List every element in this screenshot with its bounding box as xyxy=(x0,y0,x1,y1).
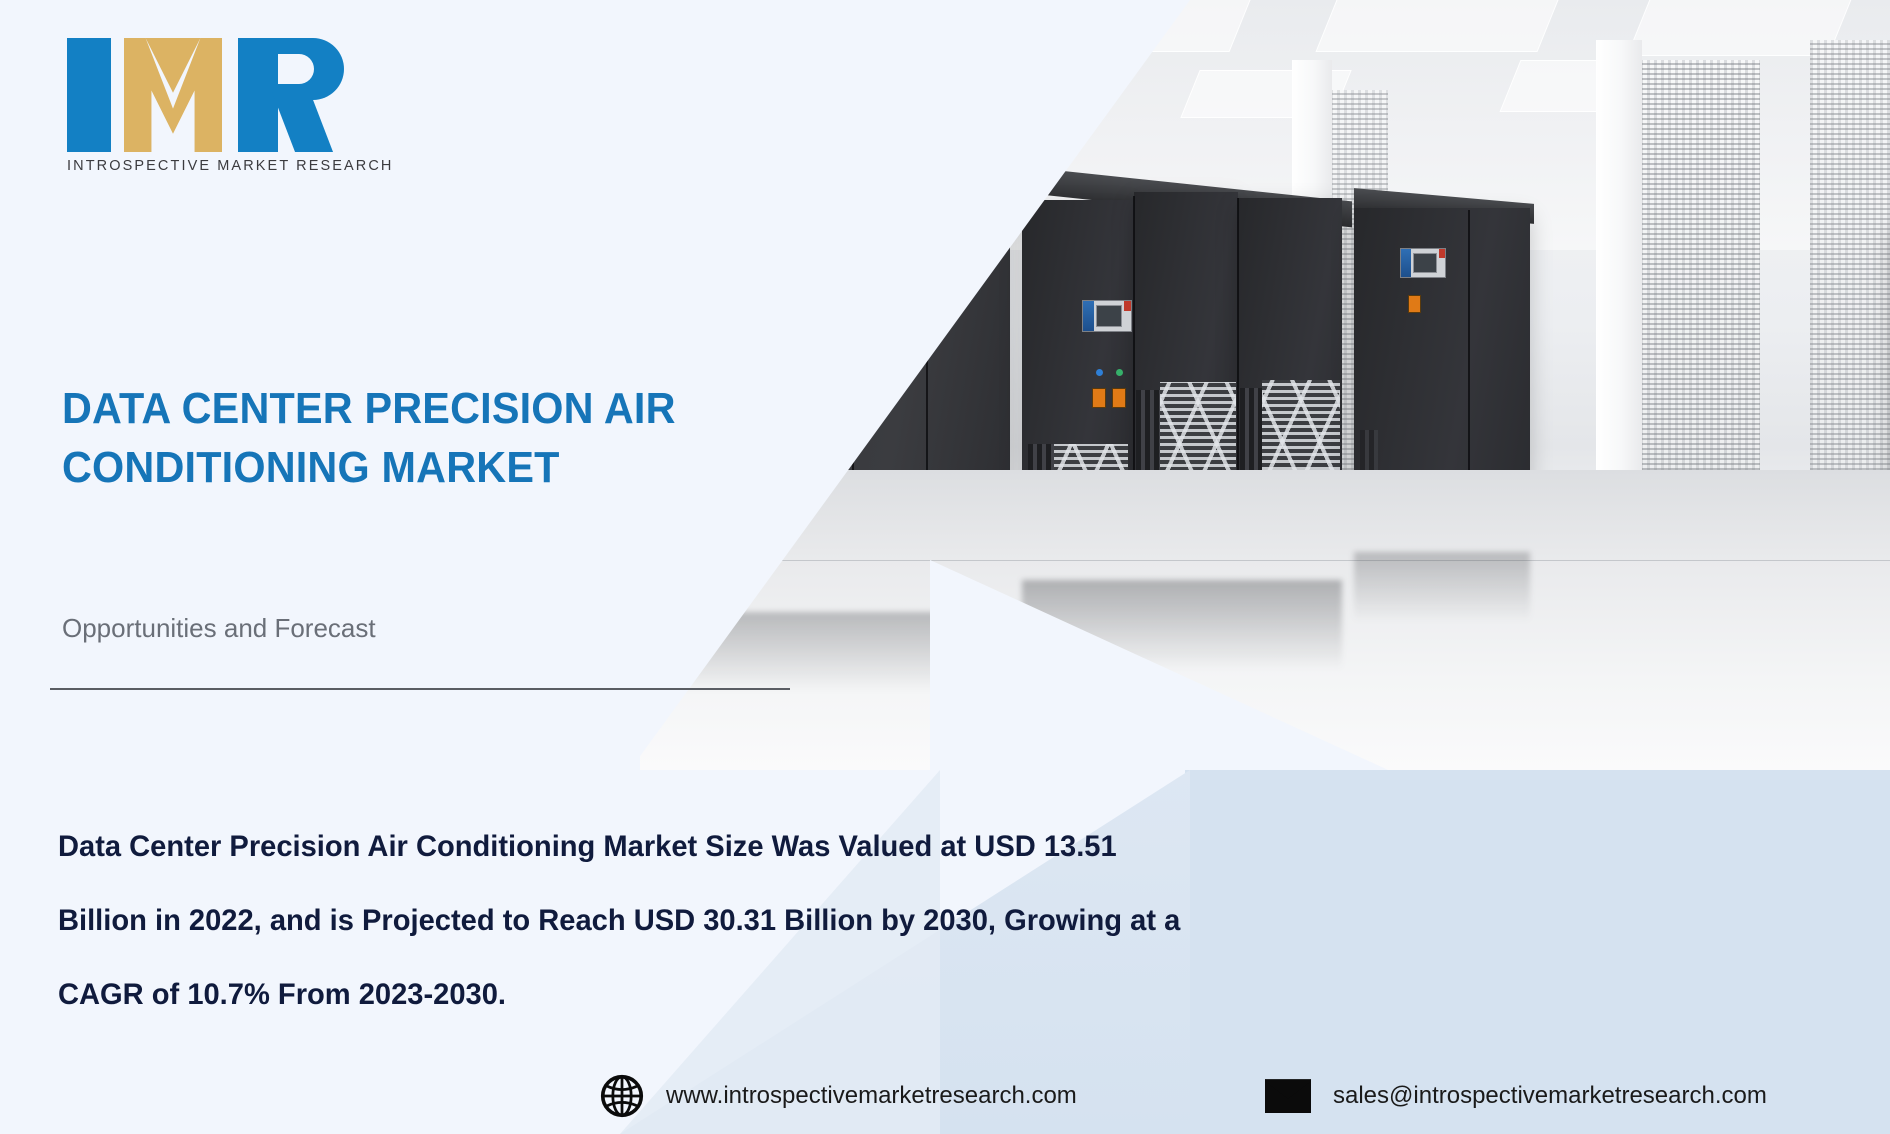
data-center-photo xyxy=(630,0,1890,770)
power-switch[interactable] xyxy=(1112,388,1126,408)
website-url: www.introspectivemarketresearch.com xyxy=(666,1082,1077,1110)
email-link[interactable]: sales@introspectivemarketresearch.com xyxy=(1265,1079,1767,1113)
power-switch[interactable] xyxy=(1408,295,1421,313)
email-address: sales@introspectivemarketresearch.com xyxy=(1333,1082,1767,1110)
power-switch[interactable] xyxy=(1092,388,1106,408)
summary-line-2: Billion in 2022, and is Projected to Rea… xyxy=(58,884,1571,958)
summary-line-3: CAGR of 10.7% From 2023-2030. xyxy=(58,958,1571,1032)
page-title: DATA CENTER PRECISION AIR CONDITIONING M… xyxy=(62,380,720,497)
poster-root: INTROSPECTIVE MARKET RESEARCH DATA CENTE… xyxy=(0,0,1890,1134)
ceiling-panel xyxy=(1315,0,1566,52)
globe-icon xyxy=(600,1074,644,1118)
website-link[interactable]: www.introspectivemarketresearch.com xyxy=(600,1074,1077,1118)
hero-text-panel: INTROSPECTIVE MARKET RESEARCH DATA CENTE… xyxy=(0,0,640,770)
control-panel[interactable] xyxy=(1400,248,1446,278)
floor-line xyxy=(630,560,1890,561)
logo-tagline: INTROSPECTIVE MARKET RESEARCH xyxy=(67,158,394,174)
logo-letter-r-counter xyxy=(278,54,314,84)
logo-letter-r-leg xyxy=(272,92,333,152)
envelope-icon xyxy=(1265,1079,1311,1113)
divider-rule xyxy=(50,688,790,690)
summary-text: Data Center Precision Air Conditioning M… xyxy=(58,810,1571,1032)
page-subtitle: Opportunities and Forecast xyxy=(62,613,376,644)
imr-logo[interactable]: INTROSPECTIVE MARKET RESEARCH xyxy=(62,30,362,190)
summary-band: Data Center Precision Air Conditioning M… xyxy=(0,770,1890,1134)
footer: www.introspectivemarketresearch.com sale… xyxy=(0,1058,1890,1134)
page-title-line-1: DATA CENTER PRECISION AIR xyxy=(62,380,720,439)
logo-marks xyxy=(62,30,362,152)
status-led-green xyxy=(1116,369,1123,376)
floor-reflection xyxy=(1354,552,1530,622)
control-panel[interactable] xyxy=(1082,300,1132,332)
logo-letter-i xyxy=(67,38,111,152)
status-led-blue xyxy=(1096,369,1103,376)
summary-line-1: Data Center Precision Air Conditioning M… xyxy=(58,810,1571,884)
page-title-line-2: CONDITIONING MARKET xyxy=(62,439,720,498)
